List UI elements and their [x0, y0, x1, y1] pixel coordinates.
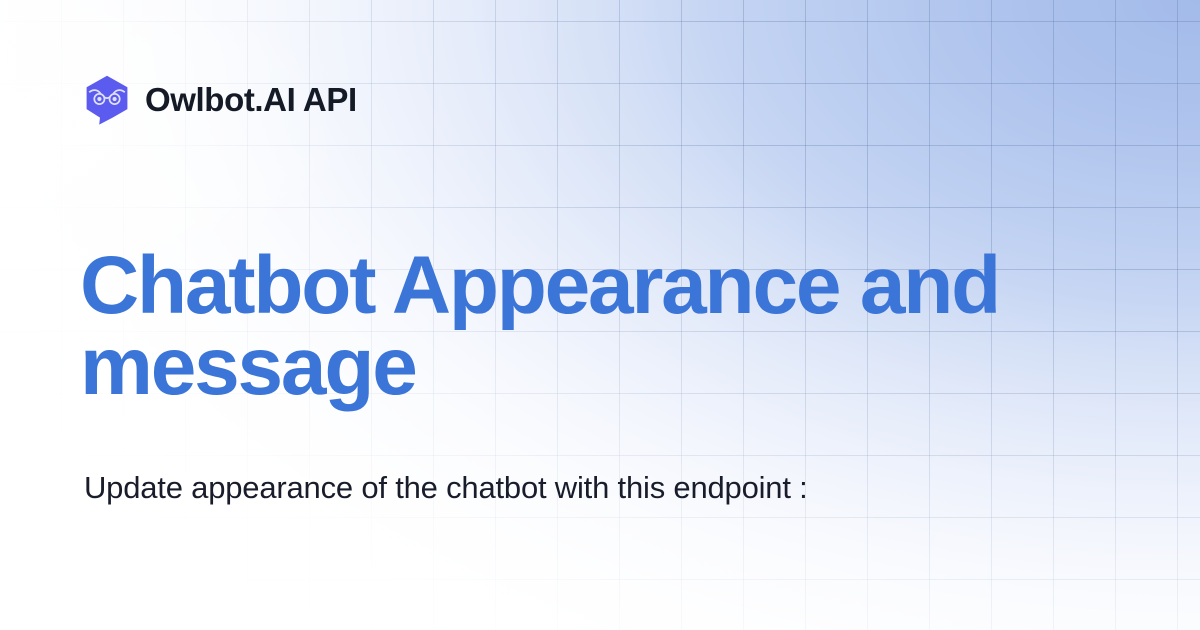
page-subtitle: Update appearance of the chatbot with th… — [84, 468, 844, 509]
page-title: Chatbot Appearance and message — [80, 245, 1060, 407]
brand-lockup[interactable]: Owlbot.AI API — [84, 75, 357, 125]
card-content: Owlbot.AI API Chatbot Appearance and mes… — [84, 0, 1084, 630]
brand-name: Owlbot.AI API — [145, 81, 357, 119]
open-graph-card: Owlbot.AI API Chatbot Appearance and mes… — [0, 0, 1200, 630]
owl-hexagon-speech-bubble-icon — [84, 75, 130, 125]
